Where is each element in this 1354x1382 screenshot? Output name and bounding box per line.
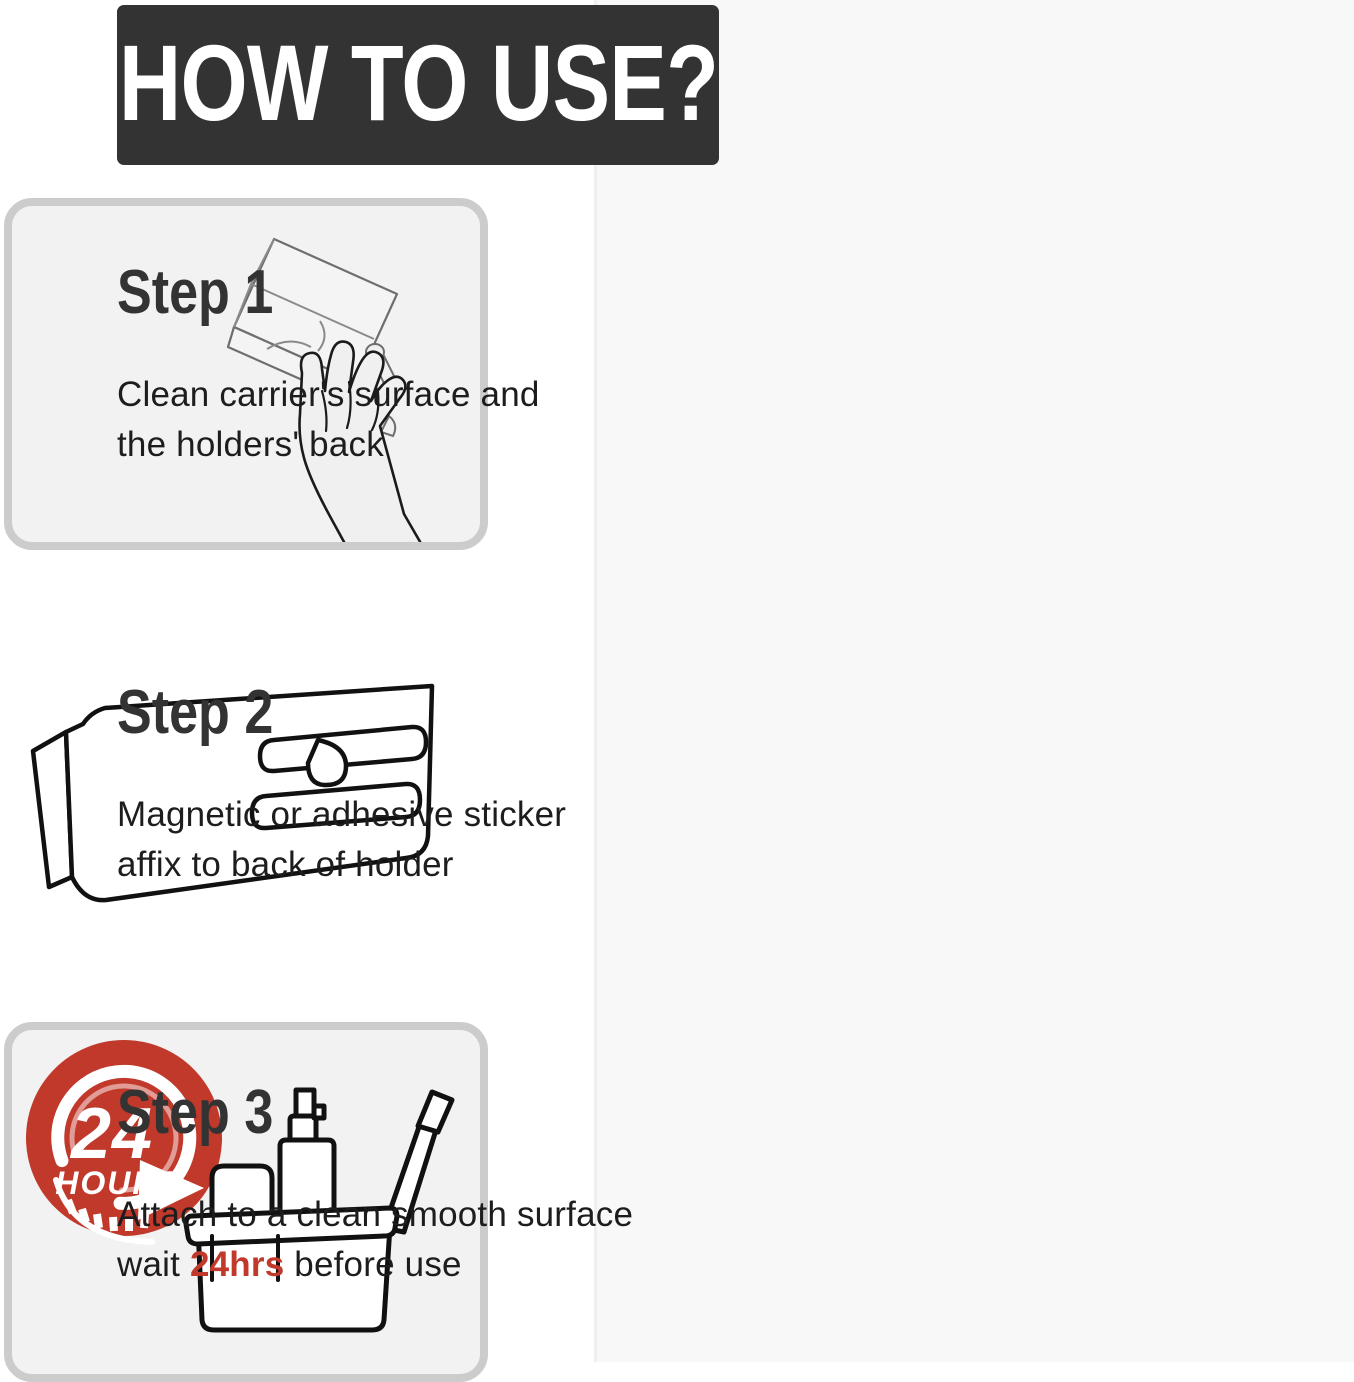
- step-3-body-prefix: wait: [117, 1245, 190, 1284]
- step-2-heading: Step 2: [117, 682, 655, 744]
- step-2-body-line-1: Magnetic or adhesive sticker: [117, 790, 757, 840]
- step-1-body-line-2: the holders' back: [117, 420, 757, 470]
- step-1-heading: Step 1: [117, 262, 655, 324]
- page-title: HOW TO USE?: [118, 29, 717, 137]
- step-3-body-suffix: before use: [284, 1245, 461, 1284]
- step-2-text-block: Step 2 Magnetic or adhesive sticker affi…: [117, 682, 757, 889]
- how-to-use-banner: HOW TO USE?: [117, 5, 719, 165]
- step-3-heading: Step 3: [117, 1082, 655, 1144]
- step-3-duration-highlight: 24hrs: [190, 1245, 284, 1284]
- step-1-text-block: Step 1 Clean carrier's surface and the h…: [117, 262, 757, 469]
- step-1-body-line-1: Clean carrier's surface and: [117, 370, 757, 420]
- step-2-body-line-2: affix to back of holder: [117, 840, 757, 890]
- step-3-body-line-2: wait 24hrs before use: [117, 1240, 757, 1290]
- infographic-page: HOW TO USE?: [0, 0, 1354, 1362]
- step-3-text-block: Step 3 Attach to a clean smooth surface …: [117, 1082, 757, 1289]
- step-3-body-line-1: Attach to a clean smooth surface: [117, 1190, 757, 1240]
